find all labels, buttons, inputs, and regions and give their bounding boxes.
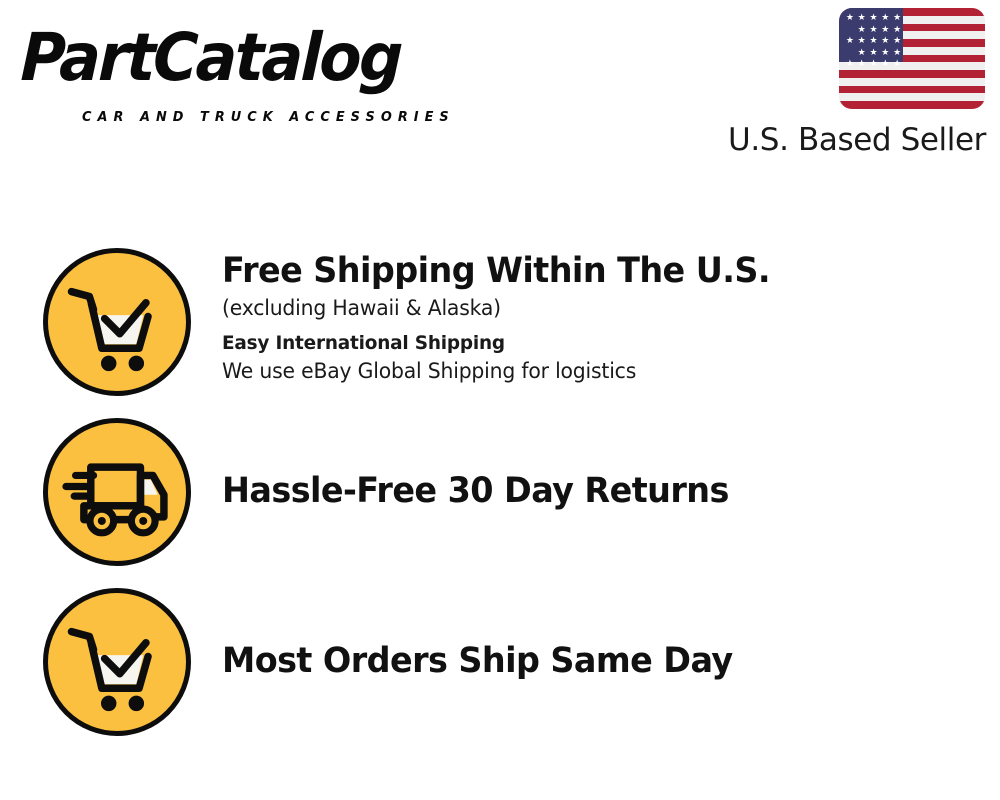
flag-stars: ★★★★★ ★★★★ ★★★★★ ★★★★ ★★★★★ (839, 8, 903, 62)
feature-title: Most Orders Ship Same Day (222, 640, 957, 682)
brand-wordmark: PartCatalog (20, 22, 402, 94)
us-flag-icon: ★★★★★ ★★★★ ★★★★★ ★★★★ ★★★★★ (839, 8, 985, 109)
feature-text: Most Orders Ship Same Day (222, 640, 992, 682)
us-based-seller-label: U.S. Based Seller (711, 123, 986, 157)
us-based-seller-badge: ★★★★★ ★★★★ ★★★★★ ★★★★ ★★★★★ U.S. Based S… (711, 8, 986, 157)
shopping-cart-check-icon (43, 248, 191, 396)
feature-title: Free Shipping Within The U.S. (222, 250, 957, 292)
feature-subtitle: (excluding Hawaii & Alaska) (222, 294, 969, 322)
page-header: PartCatalog CAR AND TRUCK ACCESSORIES ★★… (0, 0, 1000, 170)
feature-text: Hassle-Free 30 Day Returns (222, 470, 992, 512)
brand-tagline: CAR AND TRUCK ACCESSORIES (82, 110, 455, 126)
feature-row: Most Orders Ship Same Day (0, 580, 1000, 750)
delivery-truck-icon (43, 418, 191, 566)
shopping-cart-check-icon (43, 588, 191, 736)
feature-subtitle-bold: Easy International Shipping (222, 330, 969, 357)
feature-text: Free Shipping Within The U.S. (excluding… (222, 250, 992, 385)
feature-row: Free Shipping Within The U.S. (excluding… (0, 240, 1000, 410)
feature-title: Hassle-Free 30 Day Returns (222, 470, 957, 512)
brand-logo[interactable]: PartCatalog CAR AND TRUCK ACCESSORIES (22, 22, 492, 114)
feature-row: Hassle-Free 30 Day Returns (0, 410, 1000, 580)
feature-subtitle-secondary: We use eBay Global Shipping for logistic… (222, 357, 969, 385)
